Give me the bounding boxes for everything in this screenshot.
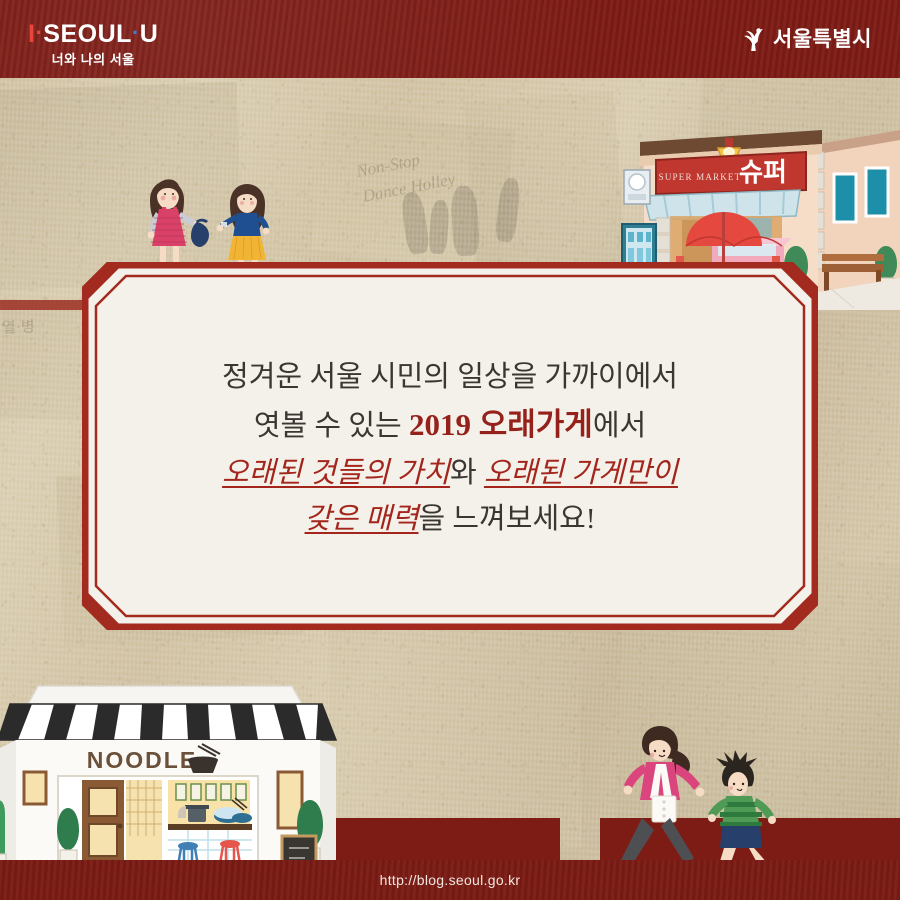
line2-seg1: 엿볼 수 있는 <box>254 410 409 442</box>
line2-highlight: 2019 오래가게 <box>409 407 593 442</box>
line3-emphasis-2: 오래된 가게만이 <box>484 457 678 489</box>
logo-word-seoul: SEOUL <box>43 20 132 48</box>
message-text-block: 정겨운 서울 시민의 일상을 가까이에서 엿볼 수 있는 2019 오래가게에서… <box>82 262 818 630</box>
line4-seg2: 을 느껴보세요! <box>418 503 595 535</box>
line4-emphasis-1: 갖은 매력 <box>305 503 419 535</box>
line1-seg1: 정겨운 서울 시민의 일상을 가까이에서 <box>222 361 678 393</box>
message-line-1: 정겨운 서울 시민의 일상을 가까이에서 <box>222 355 678 399</box>
footer-bar: http://blog.seoul.go.kr <box>0 860 900 900</box>
message-line-4: 갖은 매력을 느껴보세요! <box>305 497 596 541</box>
logo-subtitle: 너와 나의 서울 <box>28 53 158 66</box>
message-line-2: 엿볼 수 있는 2019 오래가게에서 <box>254 401 646 448</box>
illustration-mother-and-child-walking <box>614 722 790 882</box>
logo-dot-blue: · <box>132 20 140 45</box>
footer-blog-url[interactable]: http://blog.seoul.go.kr <box>380 872 521 888</box>
logo-letter-u: U <box>140 20 159 48</box>
logo-wordmark: I·SEOUL·U <box>28 22 158 47</box>
seoul-city-brand[interactable]: 서울특별시 <box>740 26 872 52</box>
line3-emphasis-1: 오래된 것들의 가치 <box>222 457 450 489</box>
market-sign-english: SUPER MARKET <box>659 172 742 182</box>
message-frame-card: 정겨운 서울 시민의 일상을 가까이에서 엿볼 수 있는 2019 오래가게에서… <box>82 262 818 630</box>
i-seoul-u-logo[interactable]: I·SEOUL·U 너와 나의 서울 <box>28 22 158 66</box>
market-sign-korean: 슈퍼 <box>739 157 787 187</box>
message-line-3: 오래된 것들의 가치와 오래된 가게만이 <box>222 451 678 495</box>
seoul-city-emblem-icon <box>740 26 766 52</box>
poster-canvas: Non-Stop Dance Holley 열·병 날이가 하늘펼쳐 <box>0 0 900 900</box>
line2-seg3: 에서 <box>593 410 646 442</box>
seoul-city-brand-label: 서울특별시 <box>773 29 872 50</box>
line3-seg2: 와 <box>450 457 484 489</box>
noodle-shop-sign: NOODLE <box>87 747 197 773</box>
header-bar: I·SEOUL·U 너와 나의 서울 서울특별시 <box>0 0 900 78</box>
